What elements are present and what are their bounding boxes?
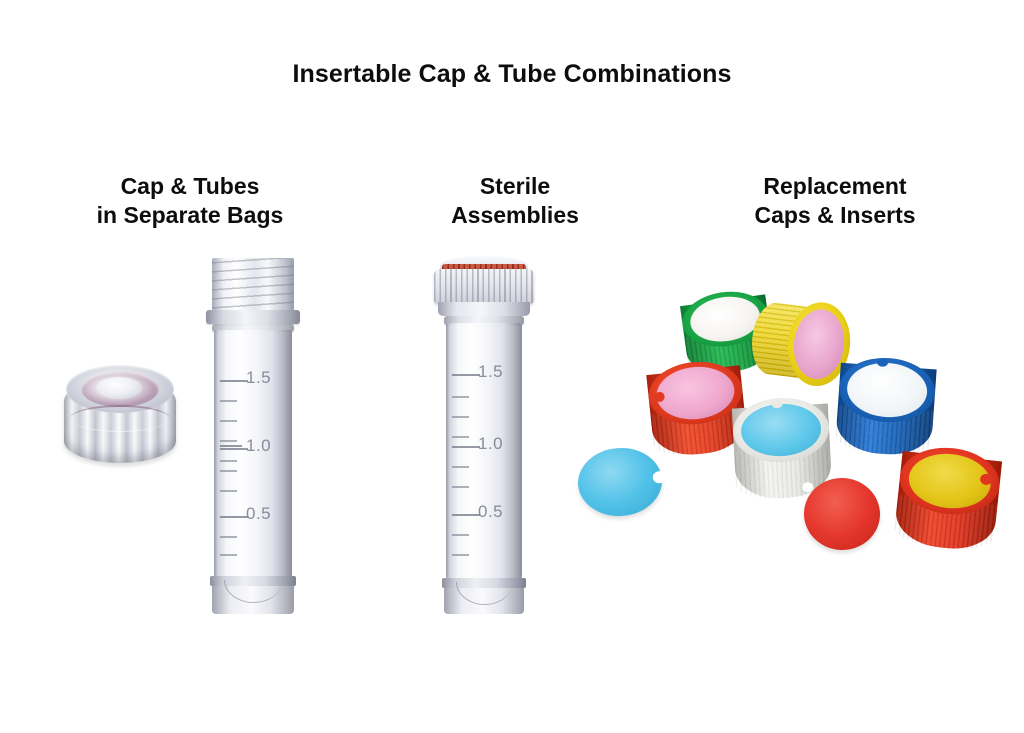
page-title: Insertable Cap & Tube Combinations bbox=[0, 60, 1024, 89]
tube-tick bbox=[220, 440, 237, 442]
tube-tick bbox=[452, 486, 469, 488]
tube-tick bbox=[220, 448, 248, 450]
insert-notch bbox=[652, 471, 666, 484]
clear-screw-cap-image bbox=[64, 365, 176, 475]
tube-graduation-label: 1.0 bbox=[246, 436, 271, 456]
column-heading-separate-bags: Cap & Tubes in Separate Bags bbox=[40, 172, 340, 231]
tube-tick bbox=[220, 470, 237, 472]
tube-tick bbox=[452, 416, 469, 418]
tube-tick bbox=[220, 380, 248, 382]
cap-dome-highlight bbox=[96, 377, 142, 399]
tube-tick bbox=[452, 446, 480, 448]
tube-graduation-label: 1.5 bbox=[478, 362, 503, 382]
cap-insert-ring bbox=[70, 405, 170, 432]
cap-blue-white bbox=[835, 355, 937, 457]
tube-tick bbox=[220, 536, 237, 538]
tube-tick bbox=[220, 516, 248, 518]
column-heading-sterile-assemblies: Sterile Assemblies bbox=[370, 172, 660, 231]
tube-tick bbox=[452, 554, 469, 556]
tube-tick bbox=[452, 534, 469, 536]
cap-skirt bbox=[438, 302, 530, 316]
tube-threaded-neck bbox=[212, 258, 294, 312]
tube-tick bbox=[220, 554, 237, 556]
tube-collar bbox=[206, 310, 300, 324]
tube-graduation-label: 0.5 bbox=[246, 504, 271, 524]
cap-ribbed-shell bbox=[434, 269, 534, 304]
insert-blue-disc bbox=[576, 445, 665, 519]
tube-tick bbox=[452, 374, 480, 376]
tube-tick bbox=[220, 445, 242, 447]
column-heading-replacement-caps: Replacement Caps & Inserts bbox=[680, 172, 990, 231]
cap-red-yellow bbox=[893, 443, 1003, 553]
tube-tick bbox=[452, 466, 469, 468]
tube-graduation-label: 0.5 bbox=[478, 502, 503, 522]
insert-notch bbox=[802, 482, 814, 493]
tube-graduation-label: 1.5 bbox=[246, 368, 271, 388]
sterile-capped-tube-image: 1.5 1.0 0.5 bbox=[428, 256, 540, 614]
tube-tick bbox=[220, 490, 237, 492]
clear-graduated-tube-image: 1.5 1.0 0.5 bbox=[198, 258, 308, 613]
cap-yellow-pink bbox=[747, 294, 855, 391]
tube-tick bbox=[220, 400, 237, 402]
tube-tick bbox=[220, 420, 237, 422]
sterile-cap bbox=[428, 256, 540, 318]
tube-tick bbox=[452, 436, 469, 438]
tube-tick bbox=[452, 396, 469, 398]
product-illustration-page: Insertable Cap & Tube Combinations Cap &… bbox=[0, 0, 1024, 733]
insert-red-disc bbox=[802, 476, 882, 552]
tube-tick bbox=[220, 460, 237, 462]
tube-graduation-label: 1.0 bbox=[478, 434, 503, 454]
tube-tick bbox=[452, 514, 480, 516]
